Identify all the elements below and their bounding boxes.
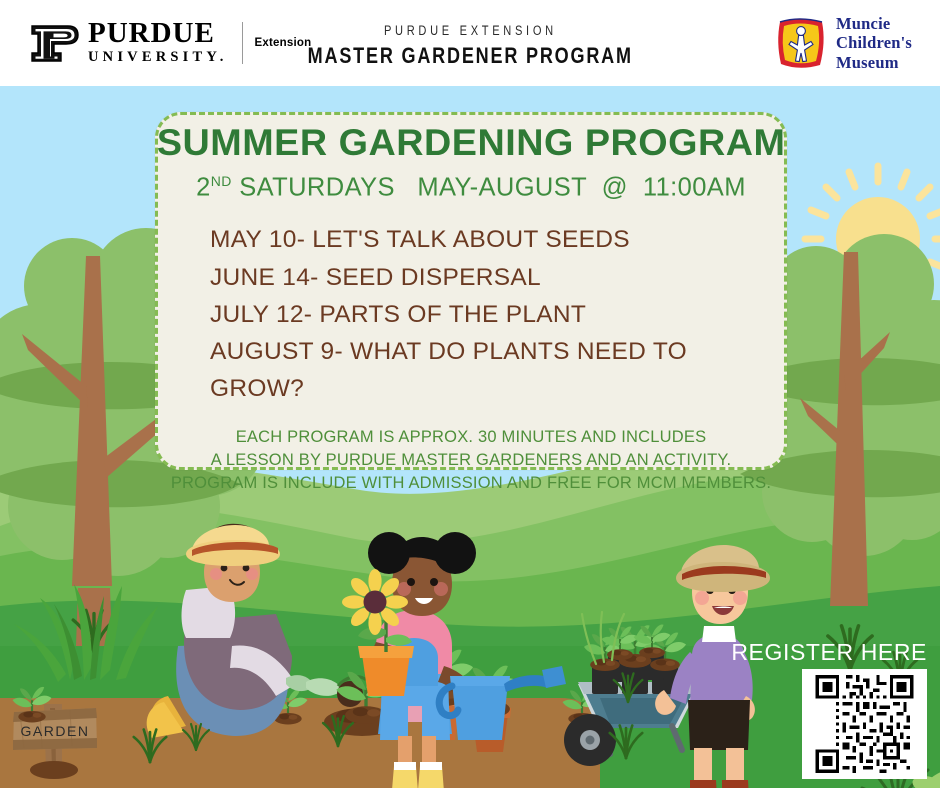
schedule-list: MAY 10- LET'S TALK ABOUT SEEDS JUNE 14- … xyxy=(158,221,784,407)
logo-divider xyxy=(242,22,243,64)
subtitle-number: 2 xyxy=(196,173,211,201)
muncie-childrens-museum-logo-icon xyxy=(773,14,829,72)
purdue-extension-label: Extension xyxy=(255,37,312,49)
program-note: EACH PROGRAM IS APPROX. 30 MINUTES AND I… xyxy=(158,426,784,496)
purdue-wordmark-top: PURDUE xyxy=(88,19,228,48)
note-line: PROGRAM IS INCLUDE WITH ADMISSION AND FR… xyxy=(158,472,784,495)
info-panel: SUMMER GARDENING PROGRAM 2ND SATURDAYS M… xyxy=(155,112,787,470)
museum-line-2: Children's xyxy=(836,33,912,52)
purdue-extension-logo: PURDUE UNIVERSITY. Extension xyxy=(28,18,311,68)
purdue-p-logo-icon xyxy=(28,20,80,66)
page-title: SUMMER GARDENING PROGRAM xyxy=(157,124,786,163)
header-line-2: MASTER GARDENER PROGRAM xyxy=(307,43,632,69)
subtitle-ordinal: ND xyxy=(211,173,232,189)
panel-subtitle: 2ND SATURDAYS MAY-AUGUST @ 11:00AM xyxy=(196,173,746,203)
header-line-1: PURDUE EXTENSION xyxy=(384,23,557,38)
list-item: MAY 10- LET'S TALK ABOUT SEEDS xyxy=(210,221,784,258)
garden-sign-text: GARDEN xyxy=(21,723,90,739)
note-line: EACH PROGRAM IS APPROX. 30 MINUTES AND I… xyxy=(158,426,784,449)
museum-line-1: Muncie xyxy=(836,14,912,33)
subtitle-rest: SATURDAYS MAY-AUGUST @ 11:00AM xyxy=(232,173,746,201)
poster-root: PURDUE UNIVERSITY. Extension PURDUE EXTE… xyxy=(0,0,940,788)
purdue-wordmark-bottom: UNIVERSITY. xyxy=(88,48,228,66)
purdue-wordmark: PURDUE UNIVERSITY. xyxy=(88,20,228,66)
museum-wordmark: Muncie Children's Museum xyxy=(836,14,912,72)
muncie-childrens-museum-logo: Muncie Children's Museum xyxy=(773,12,912,74)
list-item: AUGUST 9- WHAT DO PLANTS NEED TO GROW? xyxy=(210,333,784,407)
header-bar: PURDUE UNIVERSITY. Extension PURDUE EXTE… xyxy=(0,0,940,86)
register-here-label: REGISTER HERE xyxy=(731,639,927,666)
register-here-label-wrap: REGISTER HERE xyxy=(731,639,927,666)
list-item: JUNE 14- SEED DISPERSAL xyxy=(210,259,784,296)
qr-code-icon[interactable] xyxy=(802,669,927,779)
museum-line-3: Museum xyxy=(836,53,912,72)
note-line: A LESSON BY PURDUE MASTER GARDENERS AND … xyxy=(158,449,784,472)
list-item: JULY 12- PARTS OF THE PLANT xyxy=(210,296,784,333)
